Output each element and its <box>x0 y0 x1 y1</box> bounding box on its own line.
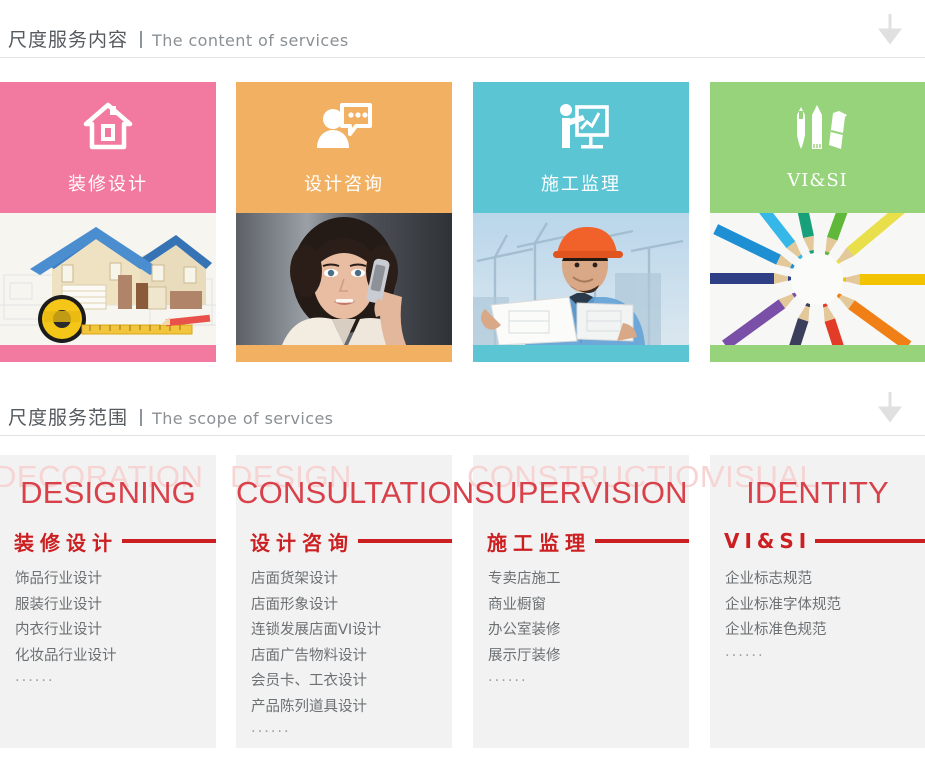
house-icon <box>0 100 216 154</box>
list-item[interactable]: 饰品行业设计 <box>15 567 206 593</box>
colored-pencils-circle-photo <box>710 213 925 362</box>
list-item-ellipsis: ······ <box>488 669 679 695</box>
list-item[interactable]: 产品陈列道具设计 <box>251 695 442 721</box>
section-title-cn: 尺度服务内容 <box>8 25 128 52</box>
arrow-down-icon <box>877 390 903 424</box>
title-rule <box>815 539 925 543</box>
service-card-visual-identity[interactable]: VI&SI <box>710 82 925 362</box>
service-cards-row: 装修设计 <box>0 82 925 362</box>
scope-panel-identity[interactable]: VISUAL IDENTITY VI&SI 企业标志规范 企业标准字体规范 企业… <box>710 455 925 748</box>
section-title-en: The content of services <box>152 31 349 50</box>
service-card-supervision[interactable]: 施工监理 <box>473 82 689 362</box>
list-item-ellipsis: ······ <box>725 644 915 670</box>
list-item[interactable]: 服装行业设计 <box>15 593 206 619</box>
list-item[interactable]: 展示厅装修 <box>488 644 679 670</box>
title-rule <box>358 539 452 543</box>
panel-cn-title-row: 施工监理 <box>487 527 689 555</box>
panel-cn-title: VI&SI <box>724 529 811 553</box>
panel-cn-title: 施工监理 <box>487 527 591 556</box>
panel-cn-title-row: 装修设计 <box>14 527 216 555</box>
service-card-consultation[interactable]: 设计咨询 <box>236 82 452 362</box>
scope-panel-supervision[interactable]: CONSTRUCTION SUPERVISION 施工监理 专卖店施工 商业橱窗… <box>473 455 689 748</box>
panel-en-title: DESIGNING <box>0 475 216 511</box>
panel-item-list: 专卖店施工 商业橱窗 办公室装修 展示厅装修 ······ <box>488 567 679 695</box>
service-card-decoration[interactable]: 装修设计 <box>0 82 216 362</box>
list-item[interactable]: 企业标准字体规范 <box>725 593 915 619</box>
panel-cn-title: 装修设计 <box>14 527 118 556</box>
title-divider <box>140 409 142 426</box>
panel-cn-title: 设计咨询 <box>250 527 354 556</box>
panel-item-list: 饰品行业设计 服装行业设计 内衣行业设计 化妆品行业设计 ······ <box>15 567 206 695</box>
panel-en-title: CONSULTATION <box>236 475 452 511</box>
section-title-cn: 尺度服务范围 <box>8 403 128 430</box>
pen-pencil-eraser-icon <box>710 100 925 154</box>
scope-panel-consultation[interactable]: DESIGN CONSULTATION 设计咨询 店面货架设计 店面形象设计 连… <box>236 455 452 748</box>
list-item[interactable]: 会员卡、工衣设计 <box>251 669 442 695</box>
panel-item-list: 店面货架设计 店面形象设计 连锁发展店面VI设计 店面广告物料设计 会员卡、工衣… <box>251 567 442 746</box>
list-item[interactable]: 办公室装修 <box>488 618 679 644</box>
title-divider <box>140 31 142 48</box>
woman-on-phone-photo <box>236 213 452 362</box>
card-label: VI&SI <box>710 170 925 191</box>
title-rule <box>122 539 216 543</box>
house-blueprint-tape-measure-photo <box>0 213 216 362</box>
card-header: VI&SI <box>710 82 925 213</box>
section-header-services: 尺度服务内容 The content of services <box>0 0 925 58</box>
section-header-titles: 尺度服务内容 The content of services <box>8 25 349 52</box>
card-header: 装修设计 <box>0 82 216 213</box>
title-rule <box>595 539 689 543</box>
presenter-chart-icon <box>473 100 689 154</box>
section-header-titles: 尺度服务范围 The scope of services <box>8 403 333 430</box>
list-item[interactable]: 化妆品行业设计 <box>15 644 206 670</box>
panel-en-title: SUPERVISION <box>473 475 689 511</box>
arrow-down-icon <box>877 12 903 46</box>
list-item-ellipsis: ······ <box>15 669 206 695</box>
scope-panel-designing[interactable]: DECORATION DESIGNING 装修设计 饰品行业设计 服装行业设计 … <box>0 455 216 748</box>
section-header-scope: 尺度服务范围 The scope of services <box>0 378 925 436</box>
panel-cn-title-row: 设计咨询 <box>250 527 452 555</box>
card-header: 施工监理 <box>473 82 689 213</box>
list-item[interactable]: 店面货架设计 <box>251 567 442 593</box>
card-label: 设计咨询 <box>236 170 452 196</box>
list-item[interactable]: 店面广告物料设计 <box>251 644 442 670</box>
list-item[interactable]: 连锁发展店面VI设计 <box>251 618 442 644</box>
card-label: 施工监理 <box>473 170 689 196</box>
list-item-ellipsis: ······ <box>251 720 442 746</box>
list-item[interactable]: 企业标志规范 <box>725 567 915 593</box>
section-title-en: The scope of services <box>152 409 333 428</box>
panel-cn-title-row: VI&SI <box>724 527 925 555</box>
list-item[interactable]: 企业标准色规范 <box>725 618 915 644</box>
card-header: 设计咨询 <box>236 82 452 213</box>
person-chat-icon <box>236 100 452 154</box>
panel-item-list: 企业标志规范 企业标准字体规范 企业标准色规范 ······ <box>725 567 915 669</box>
list-item[interactable]: 店面形象设计 <box>251 593 442 619</box>
list-item[interactable]: 商业橱窗 <box>488 593 679 619</box>
list-item[interactable]: 内衣行业设计 <box>15 618 206 644</box>
panel-en-title: IDENTITY <box>710 475 925 511</box>
engineer-hardhat-blueprints-photo <box>473 213 689 362</box>
list-item[interactable]: 专卖店施工 <box>488 567 679 593</box>
card-label: 装修设计 <box>0 170 216 196</box>
